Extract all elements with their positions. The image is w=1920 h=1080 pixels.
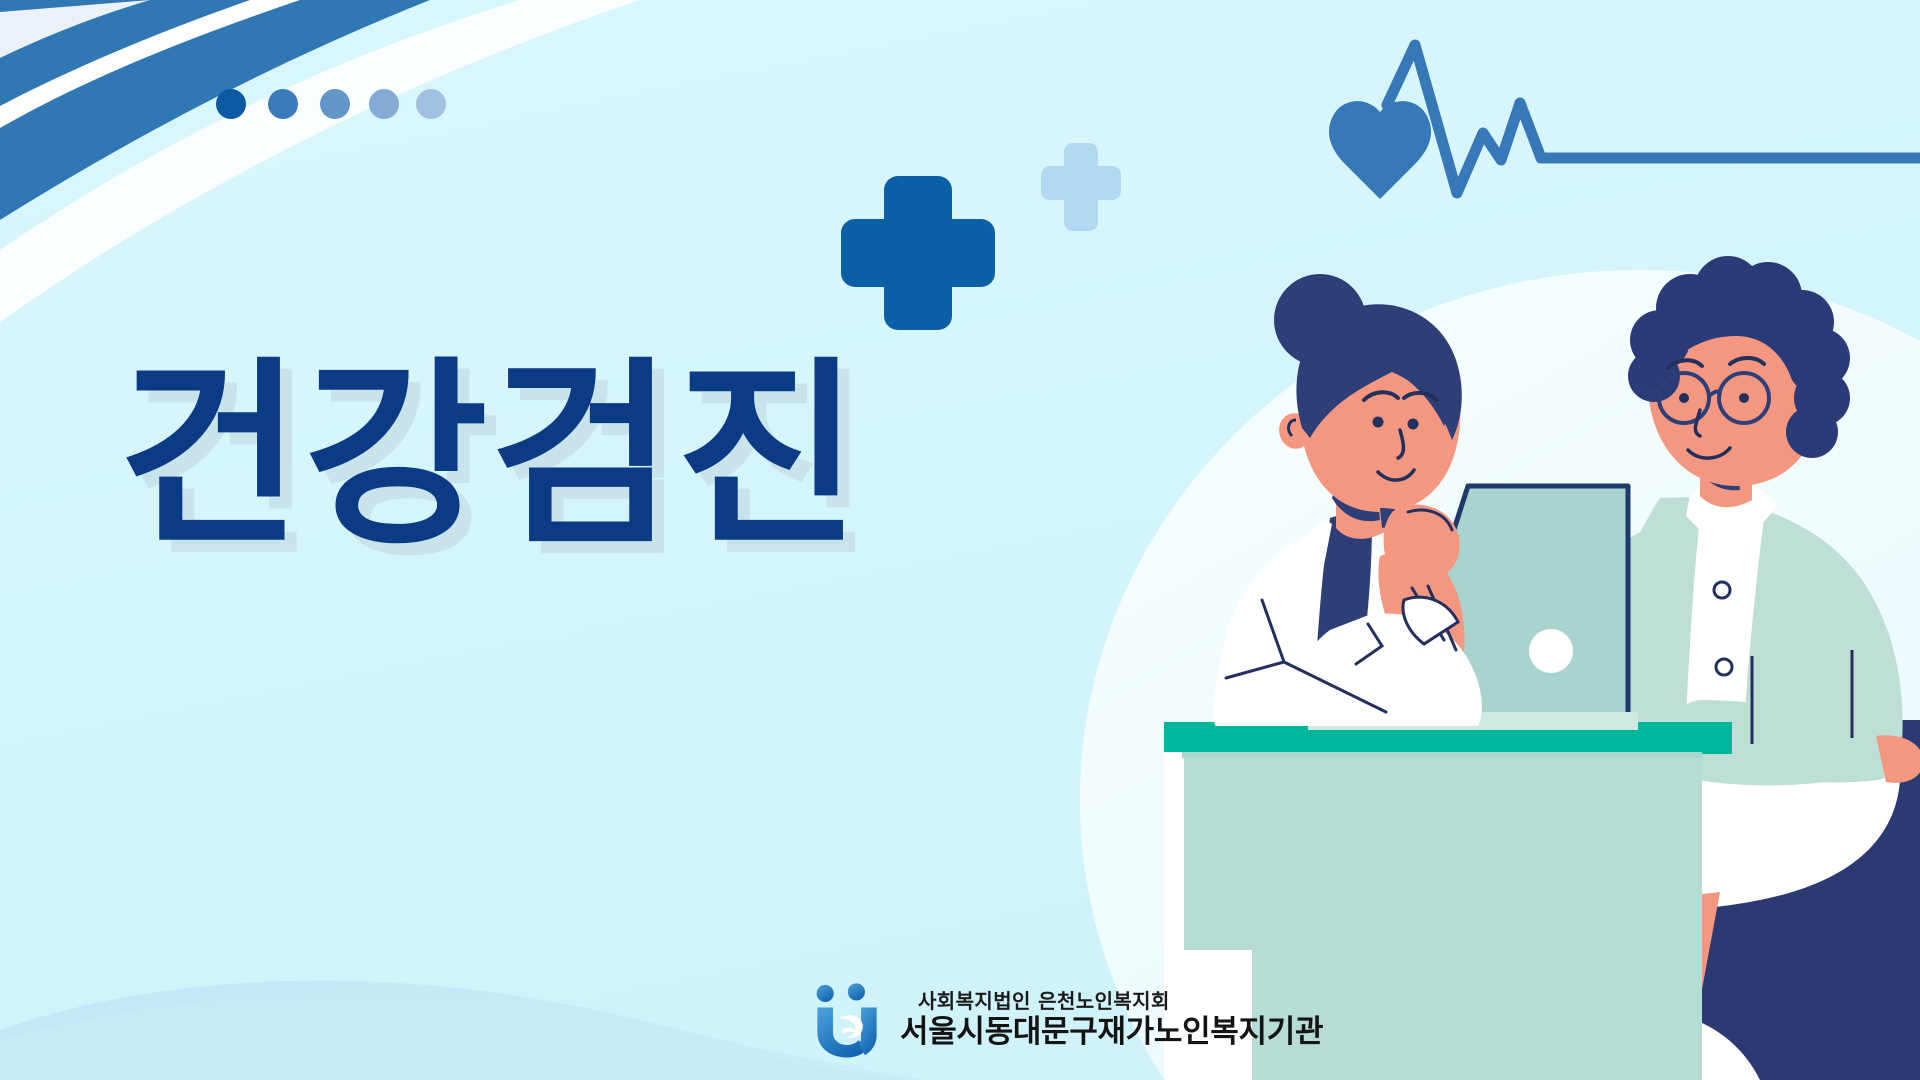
doctor-hand-fist	[1384, 504, 1460, 582]
patient-eye-left	[1679, 393, 1689, 403]
logo-dot-right	[848, 983, 865, 1000]
laptop-logo-dot	[1529, 629, 1573, 673]
org-parent-name: 사회복지법인 은천노인복지회	[918, 989, 1170, 1014]
org-institution-name: 서울시동대문구재가노인복지기관	[900, 1014, 1323, 1051]
patient-button-1	[1714, 582, 1730, 598]
logo-dot-left	[817, 985, 834, 1002]
logo-swirl	[839, 1015, 863, 1038]
title-block: 건강검진	[118, 352, 938, 582]
footer-logo-group: 사회복지법인 은천노인복지회 서울시동대문구재가노인복지기관	[808, 980, 1323, 1060]
patient-eye-right	[1739, 393, 1749, 403]
page-title: 건강검진	[118, 352, 938, 562]
organization-text: 사회복지법인 은천노인복지회 서울시동대문구재가노인복지기관	[900, 989, 1323, 1051]
organization-logo-icon	[808, 980, 886, 1060]
logo-u-stroke-right	[859, 1008, 876, 1056]
desk-shadow-strip	[1182, 752, 1702, 758]
slide-root: 건강검진 사회복지법인 은천노인복지회 서울시동대문구재가노인복지기관	[0, 0, 1920, 1080]
patient-button-2	[1716, 659, 1732, 675]
doctor-eye-right	[1408, 419, 1419, 430]
doctor-eye-left	[1373, 417, 1384, 428]
